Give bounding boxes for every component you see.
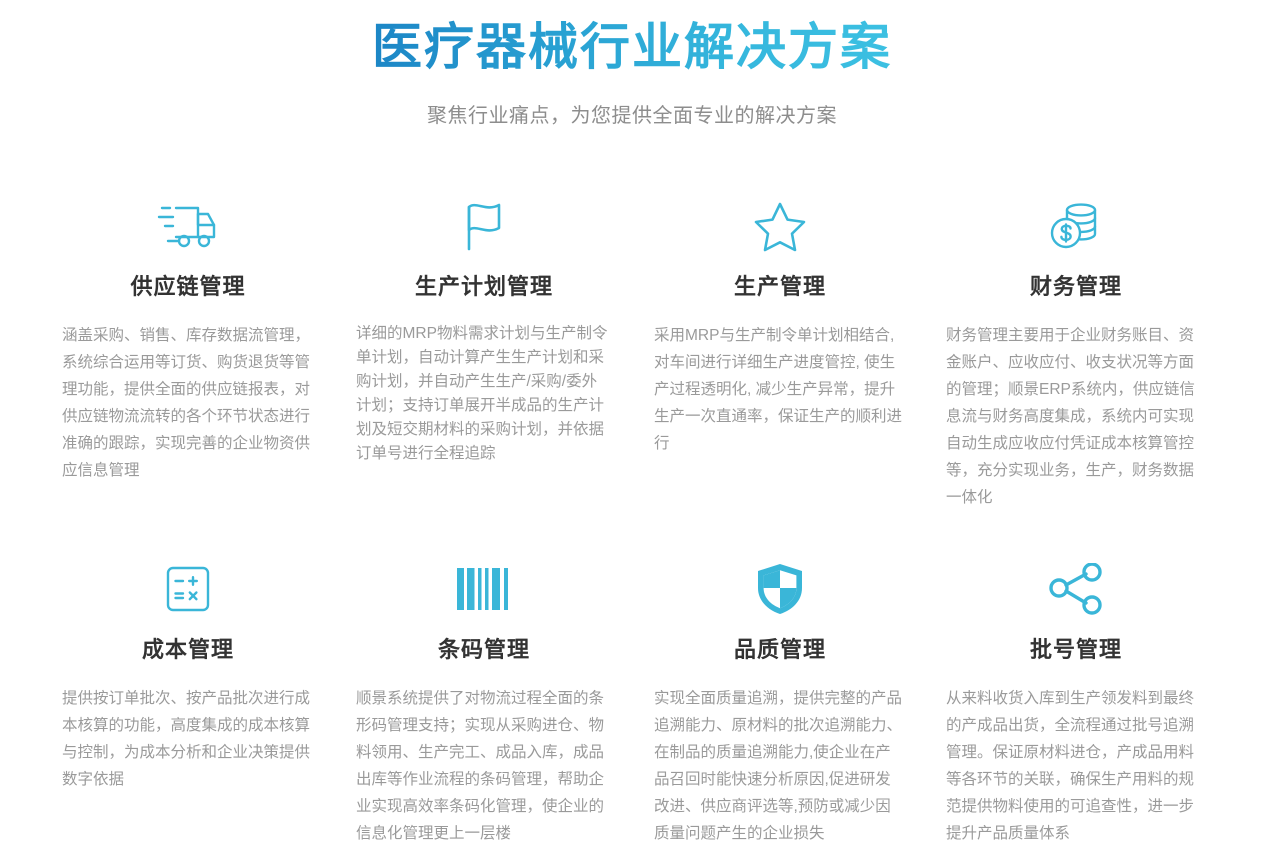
feature-card-production[interactable]: 生产管理 采用MRP与生产制令单计划相结合, 对车间进行详细生产进度管控, 使生… bbox=[632, 192, 928, 511]
card-title: 批号管理 bbox=[946, 635, 1206, 665]
star-icon bbox=[650, 192, 910, 260]
card-description: 实现全面质量追溯，提供完整的产品追溯能力、原材料的批次追溯能力、在制品的质量追溯… bbox=[650, 685, 910, 847]
feature-card-batch[interactable]: 批号管理 从来料收货入库到生产领发料到最终的产成品出货，全流程通过批号追溯管理。… bbox=[928, 555, 1224, 847]
calculator-icon bbox=[58, 555, 318, 623]
feature-card-cost[interactable]: 成本管理 提供按订单批次、按产品批次进行成本核算的功能，高度集成的成本核算与控制… bbox=[40, 555, 336, 847]
card-title: 供应链管理 bbox=[58, 272, 318, 302]
card-title: 品质管理 bbox=[650, 635, 910, 665]
flag-icon bbox=[354, 192, 614, 260]
card-description: 财务管理主要用于企业财务账目、资金账户、应收应付、收支状况等方面的管理；顺景ER… bbox=[946, 322, 1206, 511]
solution-page: 医疗器械行业解决方案 聚焦行业痛点，为您提供全面专业的解决方案 供应链管理 bbox=[0, 0, 1264, 858]
page-header: 医疗器械行业解决方案 聚焦行业痛点，为您提供全面专业的解决方案 bbox=[0, 0, 1264, 130]
card-description: 采用MRP与生产制令单计划相结合, 对车间进行详细生产进度管控, 使生产过程透明… bbox=[650, 322, 910, 457]
share-network-icon bbox=[946, 555, 1206, 623]
card-title: 生产计划管理 bbox=[354, 272, 614, 302]
card-title: 条码管理 bbox=[354, 635, 614, 665]
delivery-truck-icon bbox=[58, 192, 318, 260]
card-description: 提供按订单批次、按产品批次进行成本核算的功能，高度集成的成本核算与控制，为成本分… bbox=[58, 685, 318, 793]
page-title: 医疗器械行业解决方案 bbox=[372, 14, 892, 80]
card-description: 从来料收货入库到生产领发料到最终的产成品出货，全流程通过批号追溯管理。保证原材料… bbox=[946, 685, 1206, 847]
card-description: 详细的MRP物料需求计划与生产制令单计划，自动计算产生生产计划和采购计划，并自动… bbox=[354, 322, 614, 466]
feature-cards-row-1: 供应链管理 涵盖采购、销售、库存数据流管理，系统综合运用等订货、购货退货等管理功… bbox=[0, 192, 1264, 511]
feature-card-supply-chain[interactable]: 供应链管理 涵盖采购、销售、库存数据流管理，系统综合运用等订货、购货退货等管理功… bbox=[40, 192, 336, 511]
feature-card-quality[interactable]: 品质管理 实现全面质量追溯，提供完整的产品追溯能力、原材料的批次追溯能力、在制品… bbox=[632, 555, 928, 847]
feature-card-finance[interactable]: 财务管理 财务管理主要用于企业财务账目、资金账户、应收应付、收支状况等方面的管理… bbox=[928, 192, 1224, 511]
feature-card-production-plan[interactable]: 生产计划管理 详细的MRP物料需求计划与生产制令单计划，自动计算产生生产计划和采… bbox=[336, 192, 632, 511]
page-subtitle: 聚焦行业痛点，为您提供全面专业的解决方案 bbox=[0, 102, 1264, 130]
feature-card-barcode[interactable]: 条码管理 顺景系统提供了对物流过程全面的条形码管理支持；实现从采购进仓、物料领用… bbox=[336, 555, 632, 847]
barcode-icon bbox=[354, 555, 614, 623]
card-title: 生产管理 bbox=[650, 272, 910, 302]
card-title: 财务管理 bbox=[946, 272, 1206, 302]
card-description: 涵盖采购、销售、库存数据流管理，系统综合运用等订货、购货退货等管理功能，提供全面… bbox=[58, 322, 318, 484]
card-description: 顺景系统提供了对物流过程全面的条形码管理支持；实现从采购进仓、物料领用、生产完工… bbox=[354, 685, 614, 847]
coins-dollar-icon bbox=[946, 192, 1206, 260]
card-title: 成本管理 bbox=[58, 635, 318, 665]
feature-cards-row-2: 成本管理 提供按订单批次、按产品批次进行成本核算的功能，高度集成的成本核算与控制… bbox=[0, 555, 1264, 847]
shield-icon bbox=[650, 555, 910, 623]
